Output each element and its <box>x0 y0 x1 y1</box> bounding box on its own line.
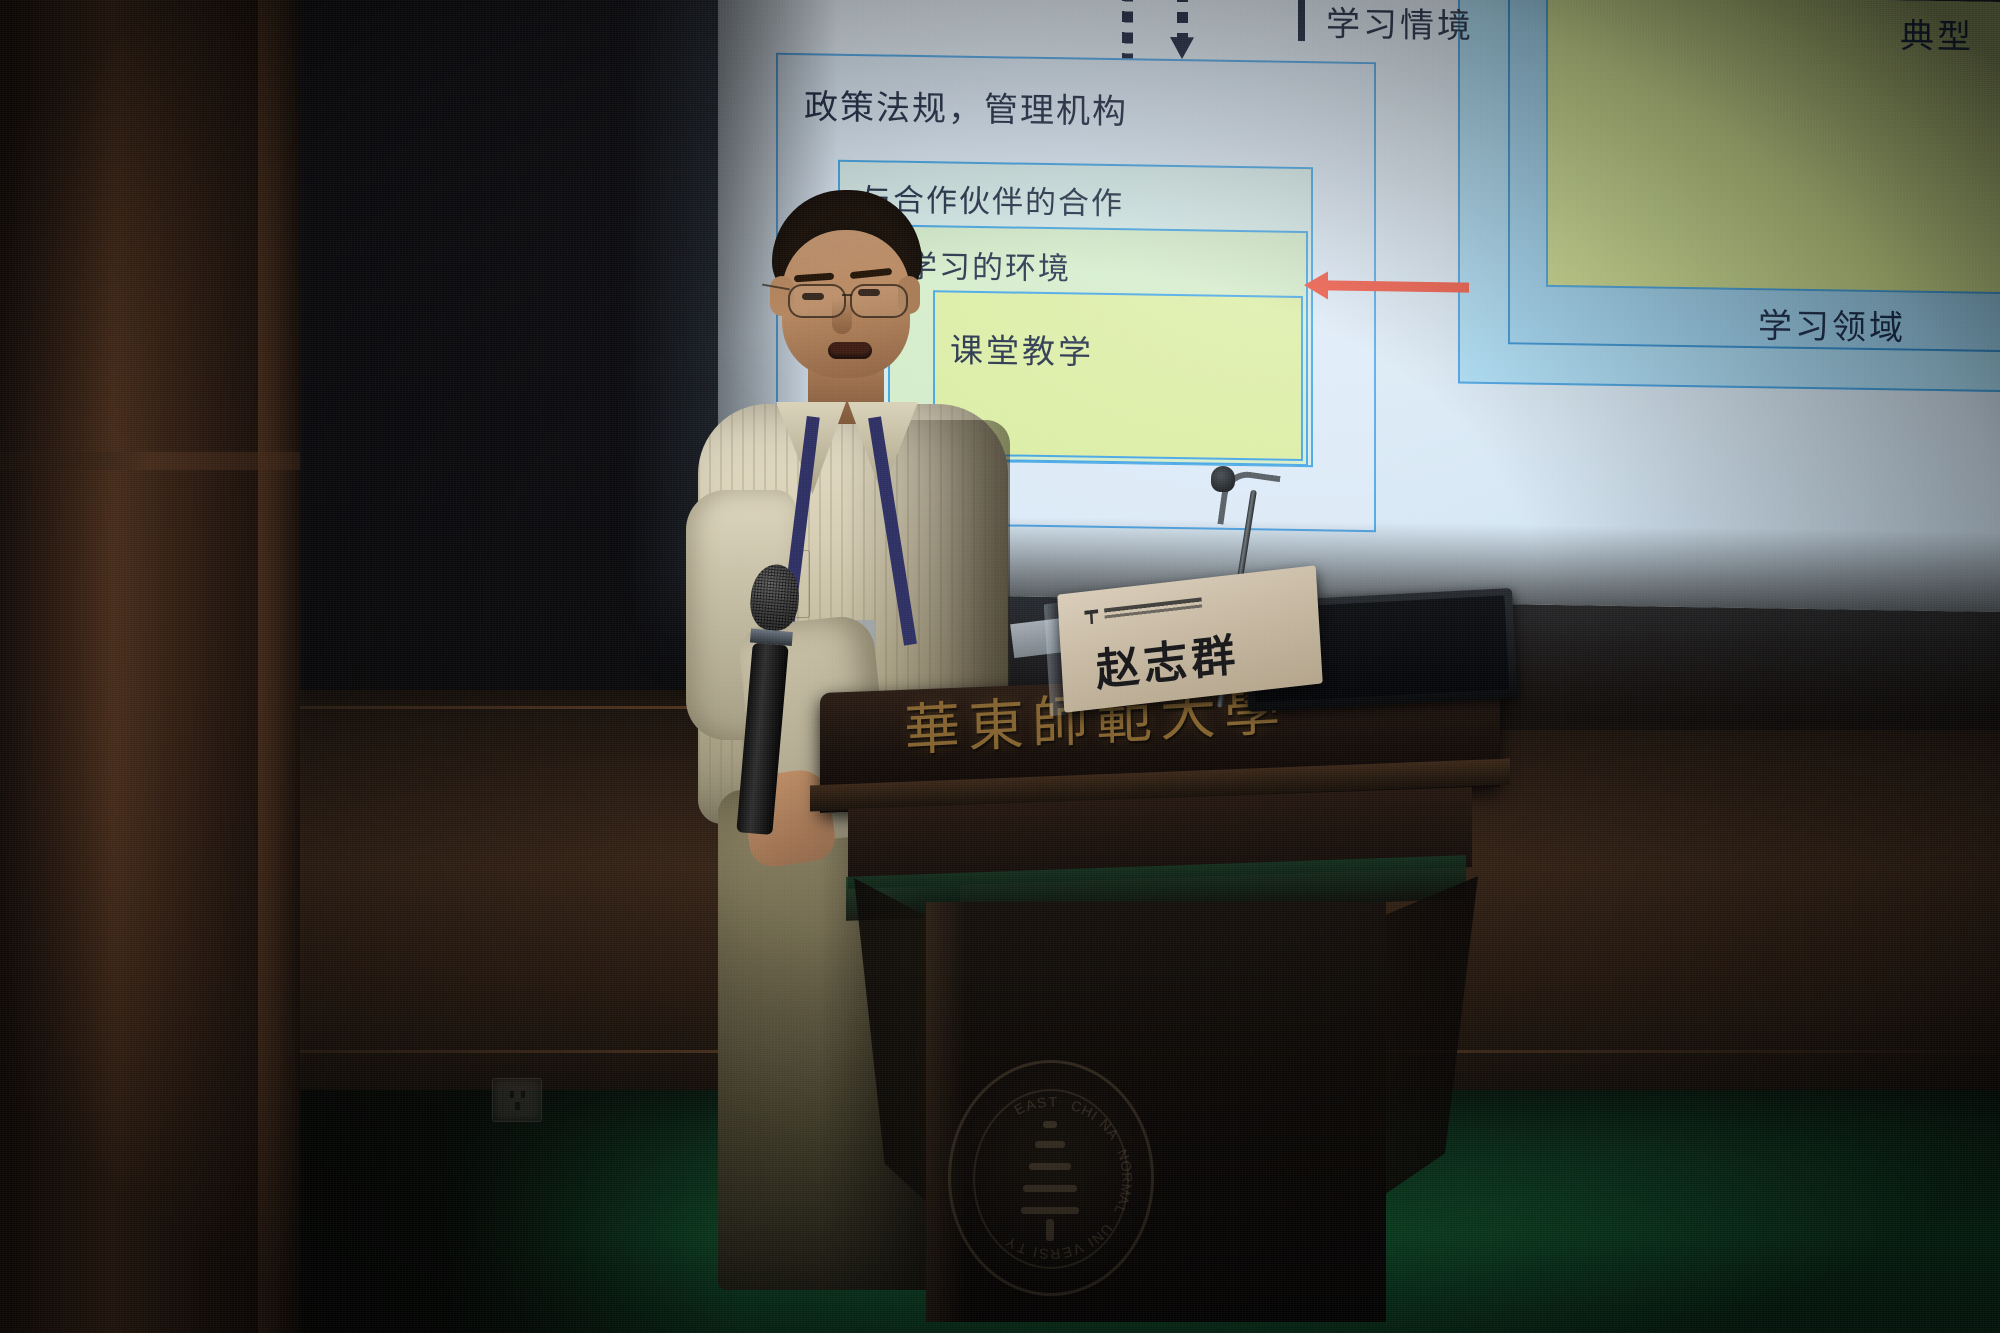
eyeglass-temple <box>762 284 790 291</box>
outlet-inner-plate <box>502 1085 534 1117</box>
outlet-ground-slot <box>515 1102 520 1110</box>
wall-power-outlet <box>492 1078 542 1122</box>
slide-label-learning-field: 学习领域 <box>1758 298 1906 349</box>
eyeglass-lens-left <box>788 284 846 318</box>
lectern-podium: 華東師範大學 EAST CHINA NORMAL UNIVERSITY <box>820 680 1500 1333</box>
right-wall-section <box>1500 600 2000 730</box>
wood-pillar-left <box>0 0 300 1333</box>
slide-label-policy: 政策法规，管理机构 <box>804 79 1128 133</box>
emblem-text-char: T <box>1048 1094 1059 1110</box>
emblem-text-char: R <box>1047 1245 1061 1262</box>
dashed-arrow-stem <box>1177 0 1188 39</box>
red-arrow-shaft <box>1324 280 1469 292</box>
microphone-mesh <box>748 562 802 632</box>
logo-mark-icon <box>1084 609 1099 625</box>
back-wall-panel <box>290 0 720 700</box>
outlet-slot <box>521 1091 525 1098</box>
emblem-text-char: S <box>1037 1246 1049 1262</box>
red-arrow-head <box>1304 271 1328 299</box>
eyeglass-bridge <box>842 294 852 296</box>
speaker-mouth <box>828 342 872 359</box>
pillar-trim <box>0 452 300 470</box>
outlet-slot <box>510 1091 514 1098</box>
university-emblem: EAST CHINA NORMAL UNIVERSITY <box>948 1060 1154 1296</box>
dashed-arrow-head-icon <box>1170 37 1194 59</box>
dashed-down-arrow <box>1177 0 1188 39</box>
eyeglass-lens-right <box>850 284 908 318</box>
pillar-edge-highlight <box>258 0 304 1333</box>
dashed-down-arrow <box>1122 0 1133 58</box>
dashed-arrow-stem <box>1122 0 1133 58</box>
red-left-arrow-icon <box>1304 279 1469 294</box>
emblem-circular-text: EAST CHINA NORMAL UNIVERSITY <box>951 1063 1151 1293</box>
slide-label-learning-context: 学习情境 <box>1326 0 1474 48</box>
gooseneck-capsule <box>1211 466 1235 492</box>
eyeglasses-icon <box>762 280 932 322</box>
screenshot-frame: 政策法规，管理机构 与合作伙伴的合作 学习的环境 课堂教学 典型 学习领域 学习… <box>0 0 2000 1333</box>
slide-label-typical: 典型 <box>1900 8 1974 58</box>
slide-divider-bar <box>1298 0 1305 41</box>
